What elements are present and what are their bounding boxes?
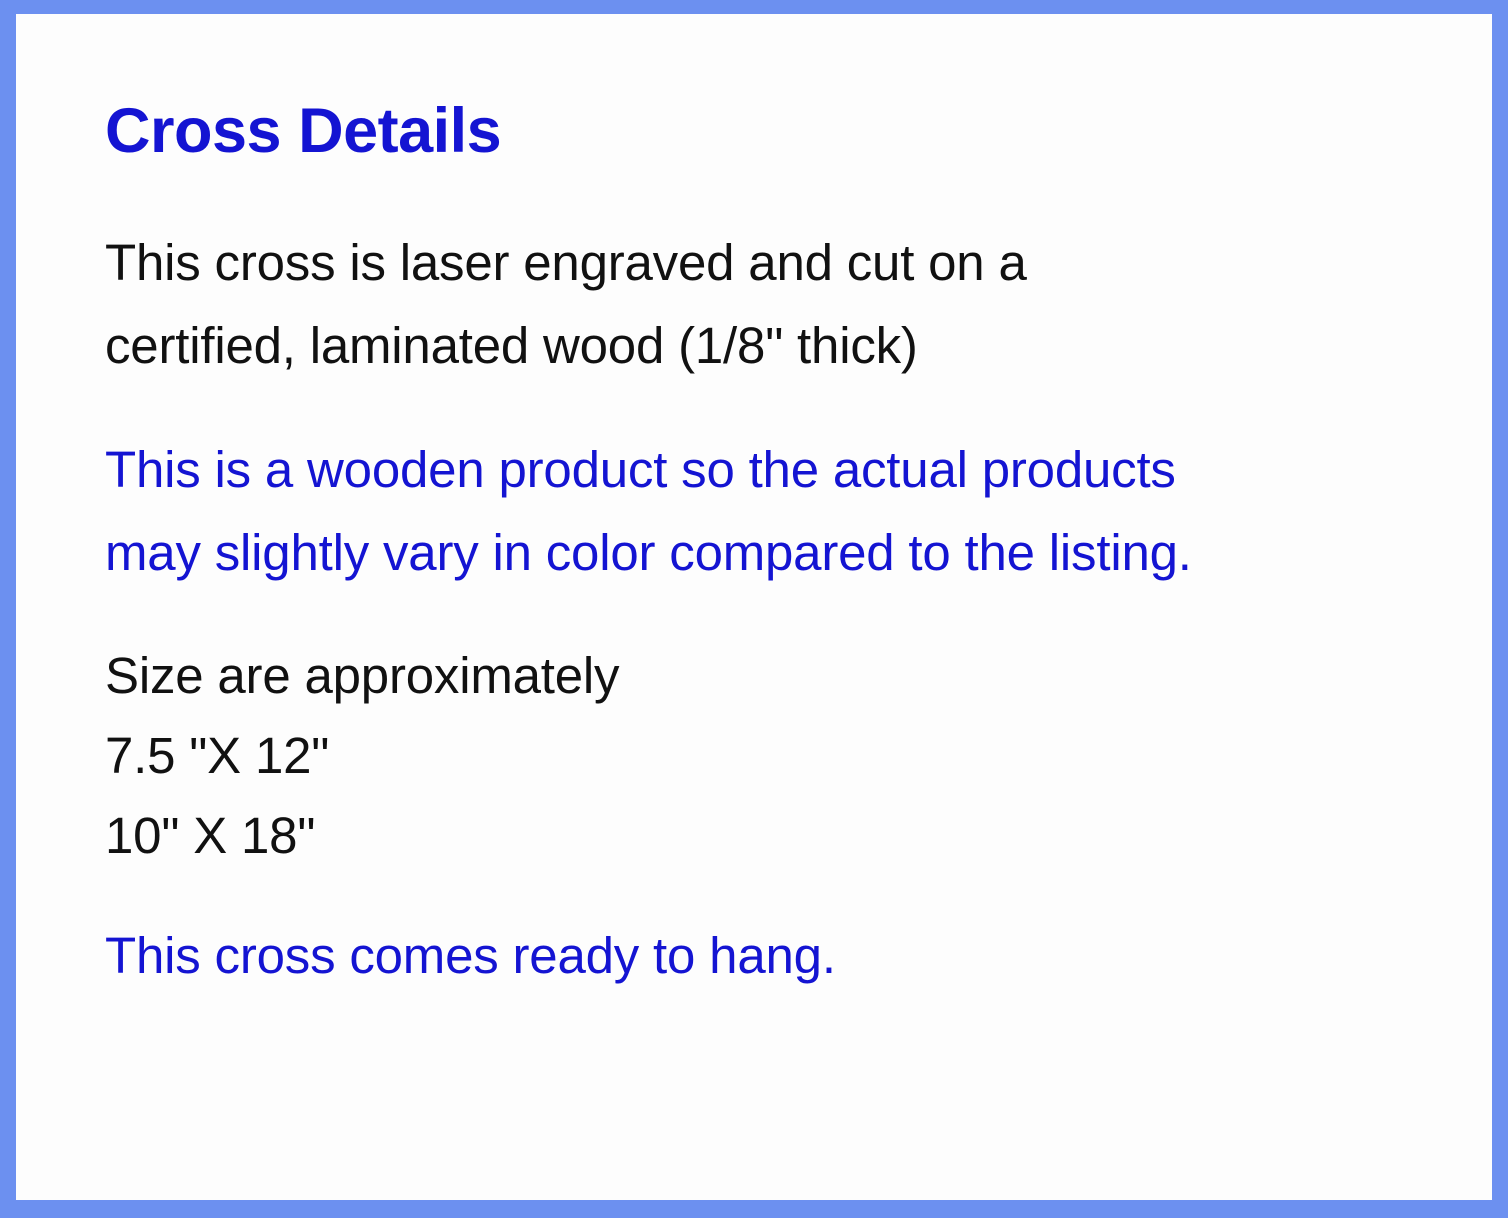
size-option-2: 10" X 18" <box>105 796 1465 876</box>
material-line-2: certified, laminated wood (1/8" thick) <box>105 305 1465 388</box>
size-option-1: 7.5 "X 12" <box>105 716 1465 796</box>
spacer-material <box>105 387 1465 429</box>
product-detail-card: Cross Details This cross is laser engrav… <box>0 0 1508 1218</box>
size-block: Size are approximately 7.5 "X 12" 10" X … <box>105 636 1465 875</box>
card-inner-page: Cross Details This cross is laser engrav… <box>16 14 1492 1200</box>
material-line-1: This cross is laser engraved and cut on … <box>105 222 1465 305</box>
disclaimer-paragraph: This is a wooden product so the actual p… <box>105 429 1465 594</box>
page-title: Cross Details <box>105 100 1465 163</box>
size-intro-label: Size are approximately <box>105 636 1465 716</box>
spacer-sizes <box>105 875 1465 915</box>
spacer-title <box>105 163 1465 222</box>
ready-to-hang-note: This cross comes ready to hang. <box>105 915 1465 998</box>
card-content: Cross Details This cross is laser engrav… <box>105 100 1465 998</box>
disclaimer-line-2: may slightly vary in color compared to t… <box>105 512 1465 595</box>
disclaimer-line-1: This is a wooden product so the actual p… <box>105 429 1465 512</box>
spacer-disclaimer <box>105 594 1465 636</box>
material-paragraph: This cross is laser engraved and cut on … <box>105 222 1465 387</box>
